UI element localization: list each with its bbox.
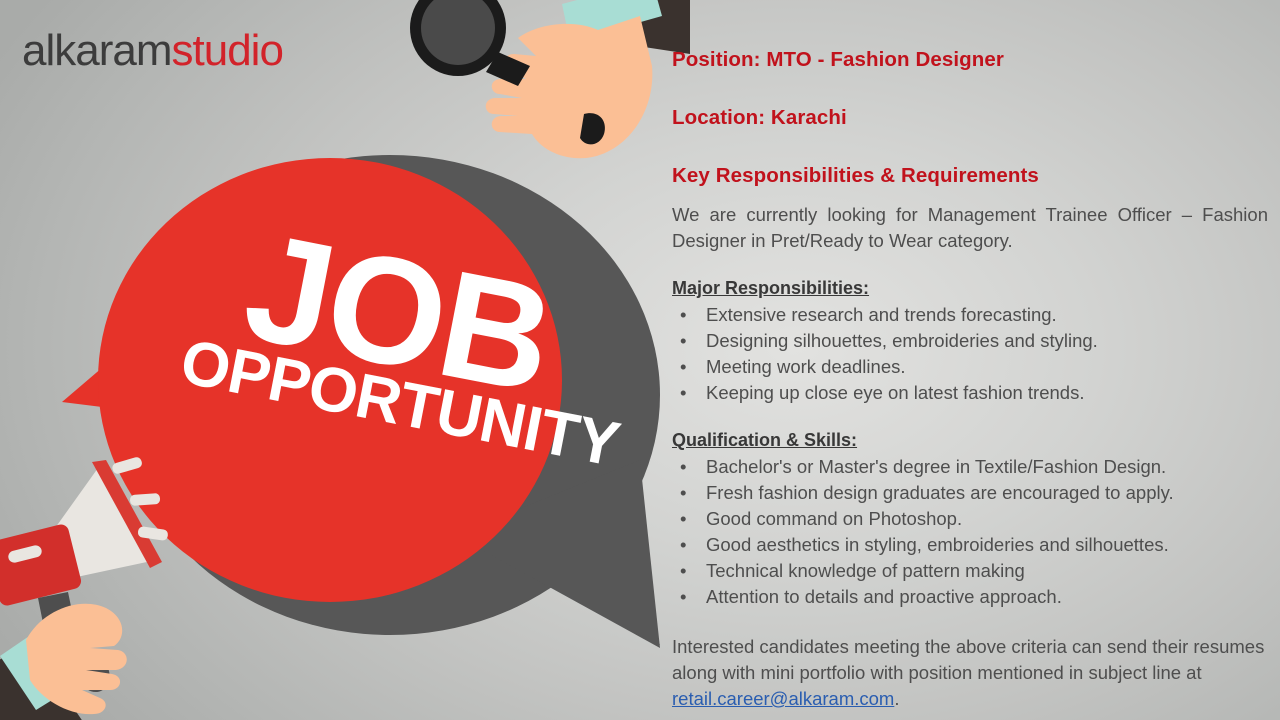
list-item: •Fresh fashion design graduates are enco…	[672, 480, 1268, 506]
closing-paragraph: Interested candidates meeting the above …	[672, 634, 1268, 712]
major-responsibilities-subheading: Major Responsibilities:	[672, 276, 869, 300]
list-item-label: Good command on Photoshop.	[706, 508, 962, 529]
bullet-icon: •	[680, 302, 686, 328]
qualifications-list: •Bachelor's or Master's degree in Textil…	[672, 454, 1268, 610]
position-heading: Position: MTO - Fashion Designer	[672, 48, 1268, 72]
magnifying-glass-icon	[390, 0, 690, 186]
list-item: •Attention to details and proactive appr…	[672, 584, 1268, 610]
list-item: •Keeping up close eye on latest fashion …	[672, 380, 1268, 406]
job-poster: alkaramstudio JOB OPPORTUNITY	[0, 0, 1280, 720]
qualification-skills-subheading: Qualification & Skills:	[672, 428, 857, 452]
job-description-panel: Position: MTO - Fashion Designer Locatio…	[672, 34, 1268, 702]
list-item-label: Bachelor's or Master's degree in Textile…	[706, 456, 1166, 477]
magnifier-hand-illustration	[390, 0, 690, 186]
bullet-icon: •	[680, 354, 686, 380]
location-heading: Location: Karachi	[672, 106, 1268, 130]
megaphone-hand-illustration	[0, 432, 246, 720]
logo-text-studio: studio	[172, 26, 283, 75]
list-item-label: Meeting work deadlines.	[706, 356, 906, 377]
list-item: •Designing silhouettes, embroideries and…	[672, 328, 1268, 354]
list-item-label: Attention to details and proactive appro…	[706, 586, 1062, 607]
bullet-icon: •	[680, 328, 686, 354]
bullet-icon: •	[680, 506, 686, 532]
list-item: •Technical knowledge of pattern making	[672, 558, 1268, 584]
list-item-label: Keeping up close eye on latest fashion t…	[706, 382, 1084, 403]
closing-text-before: Interested candidates meeting the above …	[672, 636, 1264, 683]
bullet-icon: •	[680, 380, 686, 406]
megaphone-icon	[0, 432, 246, 720]
bullet-icon: •	[680, 584, 686, 610]
list-item: •Good aesthetics in styling, embroiderie…	[672, 532, 1268, 558]
bullet-icon: •	[680, 558, 686, 584]
email-link[interactable]: retail.career@alkaram.com	[672, 688, 894, 709]
logo-text-alkaram: alkaram	[22, 26, 172, 75]
responsibilities-list: •Extensive research and trends forecasti…	[672, 302, 1268, 406]
list-item-label: Good aesthetics in styling, embroideries…	[706, 534, 1169, 555]
intro-paragraph: We are currently looking for Management …	[672, 202, 1268, 254]
list-item: •Meeting work deadlines.	[672, 354, 1268, 380]
bullet-icon: •	[680, 532, 686, 558]
key-responsibilities-heading: Key Responsibilities & Requirements	[672, 164, 1268, 188]
list-item: •Good command on Photoshop.	[672, 506, 1268, 532]
bullet-icon: •	[680, 454, 686, 480]
list-item-label: Technical knowledge of pattern making	[706, 560, 1025, 581]
sound-wave-2	[130, 493, 161, 506]
hand-shape	[486, 16, 653, 158]
list-item-label: Designing silhouettes, embroideries and …	[706, 330, 1098, 351]
list-item: •Extensive research and trends forecasti…	[672, 302, 1268, 328]
sound-wave-1	[111, 456, 143, 475]
brand-logo: alkaramstudio	[22, 26, 283, 76]
closing-text-after: .	[894, 688, 899, 709]
list-item-label: Fresh fashion design graduates are encou…	[706, 482, 1174, 503]
bullet-icon: •	[680, 480, 686, 506]
list-item: •Bachelor's or Master's degree in Textil…	[672, 454, 1268, 480]
list-item-label: Extensive research and trends forecastin…	[706, 304, 1057, 325]
